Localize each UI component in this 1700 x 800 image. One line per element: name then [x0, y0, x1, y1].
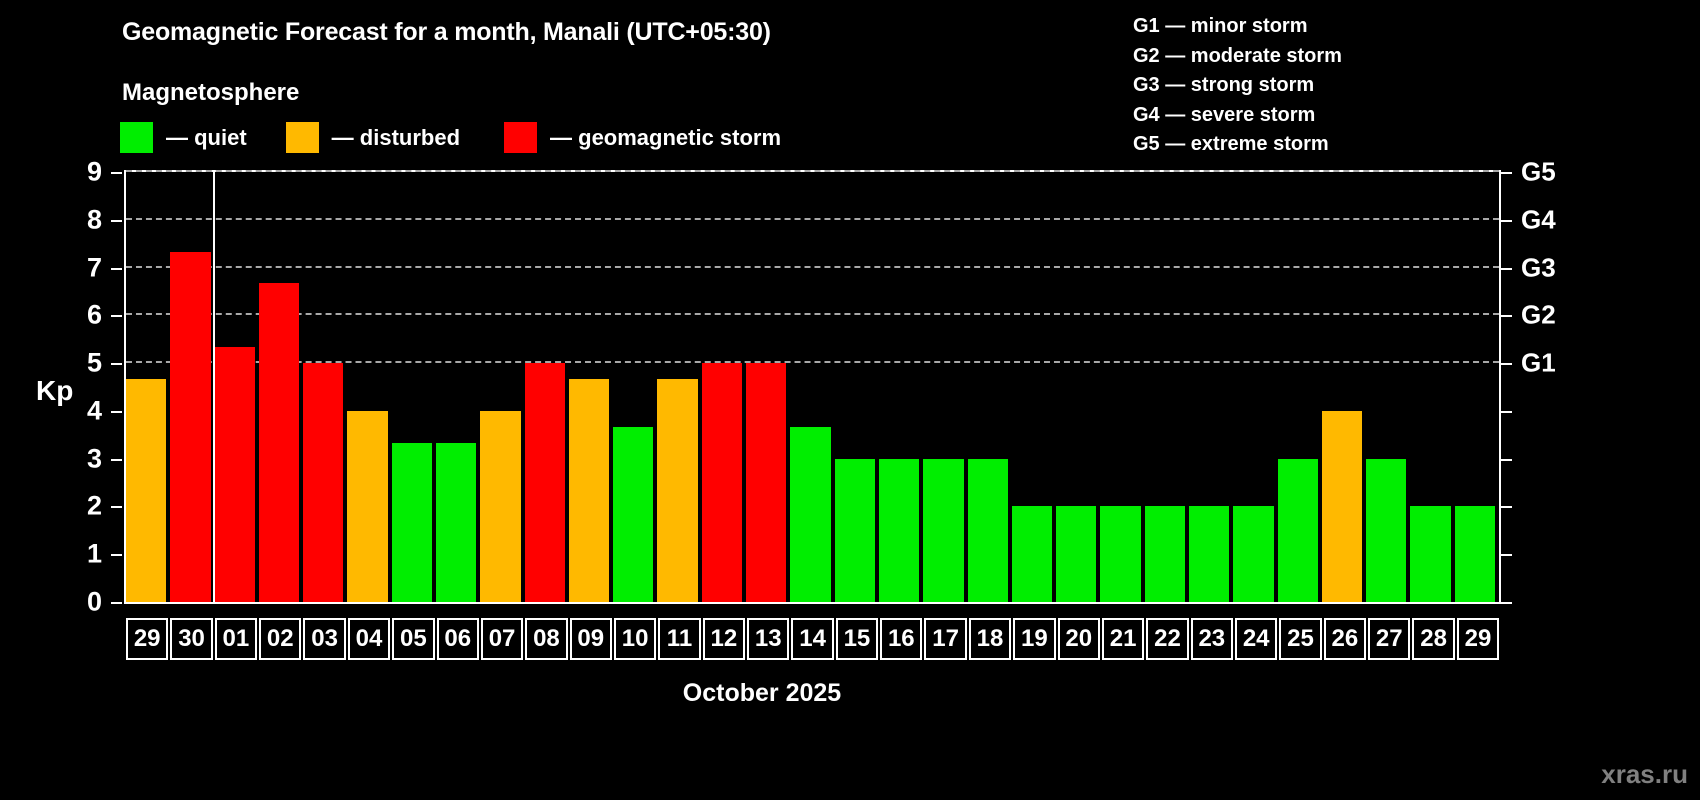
bar-day-16 — [879, 459, 919, 602]
bar-day-18 — [968, 459, 1008, 602]
gscale-key-row-g1: G1 — minor storm — [1133, 12, 1342, 42]
y-tick-label-0: 0 — [68, 587, 102, 618]
g-tick-label-g3: G3 — [1521, 252, 1556, 283]
bar-day-09 — [569, 379, 609, 602]
x-label-day-06: 06 — [437, 618, 479, 660]
bar-day-02 — [259, 283, 299, 602]
bar-day-05 — [392, 443, 432, 602]
bar-day-24 — [1233, 506, 1273, 602]
g-axis-minor-tick-0 — [1501, 602, 1512, 604]
x-label-day-09: 09 — [570, 618, 612, 660]
legend-label-storm: — geomagnetic storm — [550, 125, 781, 151]
y-tick-mark-8 — [111, 220, 122, 222]
y-tick-label-8: 8 — [68, 204, 102, 235]
legend-swatch-quiet — [120, 122, 153, 153]
bar-day-29 — [126, 379, 166, 602]
bar-day-27 — [1366, 459, 1406, 602]
bar-day-22 — [1145, 506, 1185, 602]
bar-day-15 — [835, 459, 875, 602]
bar-day-28 — [1410, 506, 1450, 602]
x-label-day-11: 11 — [658, 618, 700, 660]
x-label-day-10: 10 — [614, 618, 656, 660]
y-tick-label-3: 3 — [68, 443, 102, 474]
y-tick-label-5: 5 — [68, 348, 102, 379]
x-label-day-03: 03 — [303, 618, 345, 660]
legend-item-quiet: — quiet — [120, 122, 247, 153]
gscale-key-row-g2: G2 — moderate storm — [1133, 42, 1342, 72]
y-tick-mark-0 — [111, 602, 122, 604]
gscale-key-row-g4: G4 — severe storm — [1133, 101, 1342, 131]
y-tick-mark-2 — [111, 506, 122, 508]
bar-day-17 — [923, 459, 963, 602]
y-tick-mark-4 — [111, 411, 122, 413]
bar-day-07 — [480, 411, 520, 602]
month-label-text: October 2025 — [683, 679, 841, 707]
x-label-day-12: 12 — [703, 618, 745, 660]
gscale-key-row-g5: G5 — extreme storm — [1133, 130, 1342, 160]
bar-day-06 — [436, 443, 476, 602]
x-label-day-07: 07 — [481, 618, 523, 660]
g-tick-mark-g5 — [1501, 172, 1512, 174]
bar-day-25 — [1278, 459, 1318, 602]
bar-day-26 — [1322, 411, 1362, 602]
x-label-day-13: 13 — [747, 618, 789, 660]
legend-item-storm: — geomagnetic storm — [504, 122, 781, 153]
bar-day-23 — [1189, 506, 1229, 602]
x-label-day-29: 29 — [1457, 618, 1499, 660]
bar-day-29 — [1455, 506, 1495, 602]
bar-day-12 — [702, 363, 742, 602]
legend-swatch-storm — [504, 122, 537, 153]
x-label-day-23: 23 — [1191, 618, 1233, 660]
x-label-day-15: 15 — [836, 618, 878, 660]
x-label-day-08: 08 — [525, 618, 567, 660]
legend-label-disturbed: — disturbed — [332, 125, 460, 151]
legend-item-disturbed: — disturbed — [286, 122, 460, 153]
y-tick-label-7: 7 — [68, 252, 102, 283]
x-label-day-01: 01 — [215, 618, 257, 660]
y-tick-mark-3 — [111, 459, 122, 461]
legend-swatch-disturbed — [286, 122, 319, 153]
page-title: Geomagnetic Forecast for a month, Manali… — [122, 18, 771, 47]
x-label-day-05: 05 — [392, 618, 434, 660]
bar-day-20 — [1056, 506, 1096, 602]
x-label-day-22: 22 — [1146, 618, 1188, 660]
y-tick-mark-9 — [111, 172, 122, 174]
bar-day-19 — [1012, 506, 1052, 602]
g-tick-label-g2: G2 — [1521, 300, 1556, 331]
y-tick-label-1: 1 — [68, 539, 102, 570]
g-axis-minor-tick-3 — [1501, 459, 1512, 461]
x-label-day-14: 14 — [791, 618, 833, 660]
x-label-day-26: 26 — [1324, 618, 1366, 660]
g-tick-mark-g3 — [1501, 268, 1512, 270]
g-tick-mark-g4 — [1501, 220, 1512, 222]
g-tick-mark-g2 — [1501, 315, 1512, 317]
bar-day-30 — [170, 252, 210, 602]
x-label-day-17: 17 — [924, 618, 966, 660]
x-label-day-30: 30 — [170, 618, 212, 660]
g-axis-minor-tick-1 — [1501, 554, 1512, 556]
gscale-key: G1 — minor storm G2 — moderate storm G3 … — [1133, 12, 1342, 160]
y-tick-mark-7 — [111, 268, 122, 270]
x-label-day-19: 19 — [1013, 618, 1055, 660]
x-label-day-24: 24 — [1235, 618, 1277, 660]
bar-day-04 — [347, 411, 387, 602]
x-label-day-27: 27 — [1368, 618, 1410, 660]
x-axis-day-labels: 2930010203040506070809101112131415161718… — [126, 618, 1499, 660]
x-label-day-04: 04 — [348, 618, 390, 660]
y-tick-label-9: 9 — [68, 157, 102, 188]
y-axis-ticks: 0123456789 — [78, 170, 122, 604]
x-label-day-29: 29 — [126, 618, 168, 660]
y-tick-label-2: 2 — [68, 491, 102, 522]
g-tick-mark-g1 — [1501, 363, 1512, 365]
x-label-day-25: 25 — [1279, 618, 1321, 660]
x-label-day-20: 20 — [1058, 618, 1100, 660]
gscale-key-row-g3: G3 — strong storm — [1133, 71, 1342, 101]
x-label-day-02: 02 — [259, 618, 301, 660]
bar-series — [126, 172, 1499, 602]
bar-day-11 — [657, 379, 697, 602]
y-tick-mark-1 — [111, 554, 122, 556]
g-scale-axis: G1G2G3G4G5 — [1501, 170, 1700, 604]
bar-day-01 — [215, 347, 255, 602]
bar-day-08 — [525, 363, 565, 602]
bar-day-10 — [613, 427, 653, 602]
bar-day-14 — [790, 427, 830, 602]
y-tick-label-6: 6 — [68, 300, 102, 331]
g-axis-minor-tick-4 — [1501, 411, 1512, 413]
watermark: xras.ru — [1601, 759, 1688, 790]
magnetosphere-label: Magnetosphere — [122, 79, 299, 107]
y-tick-mark-6 — [111, 315, 122, 317]
x-label-day-18: 18 — [969, 618, 1011, 660]
y-tick-label-4: 4 — [68, 395, 102, 426]
g-tick-label-g5: G5 — [1521, 157, 1556, 188]
legend-label-quiet: — quiet — [166, 125, 247, 151]
magnetosphere-legend: — quiet — disturbed — geomagnetic storm — [120, 122, 781, 153]
bar-day-21 — [1100, 506, 1140, 602]
g-tick-label-g1: G1 — [1521, 348, 1556, 379]
x-label-day-16: 16 — [880, 618, 922, 660]
month-label: October 2025 — [0, 679, 1700, 708]
bar-day-13 — [746, 363, 786, 602]
bar-day-03 — [303, 363, 343, 602]
y-tick-mark-5 — [111, 363, 122, 365]
g-axis-minor-tick-2 — [1501, 506, 1512, 508]
x-label-day-21: 21 — [1102, 618, 1144, 660]
x-label-day-28: 28 — [1412, 618, 1454, 660]
g-tick-label-g4: G4 — [1521, 204, 1556, 235]
